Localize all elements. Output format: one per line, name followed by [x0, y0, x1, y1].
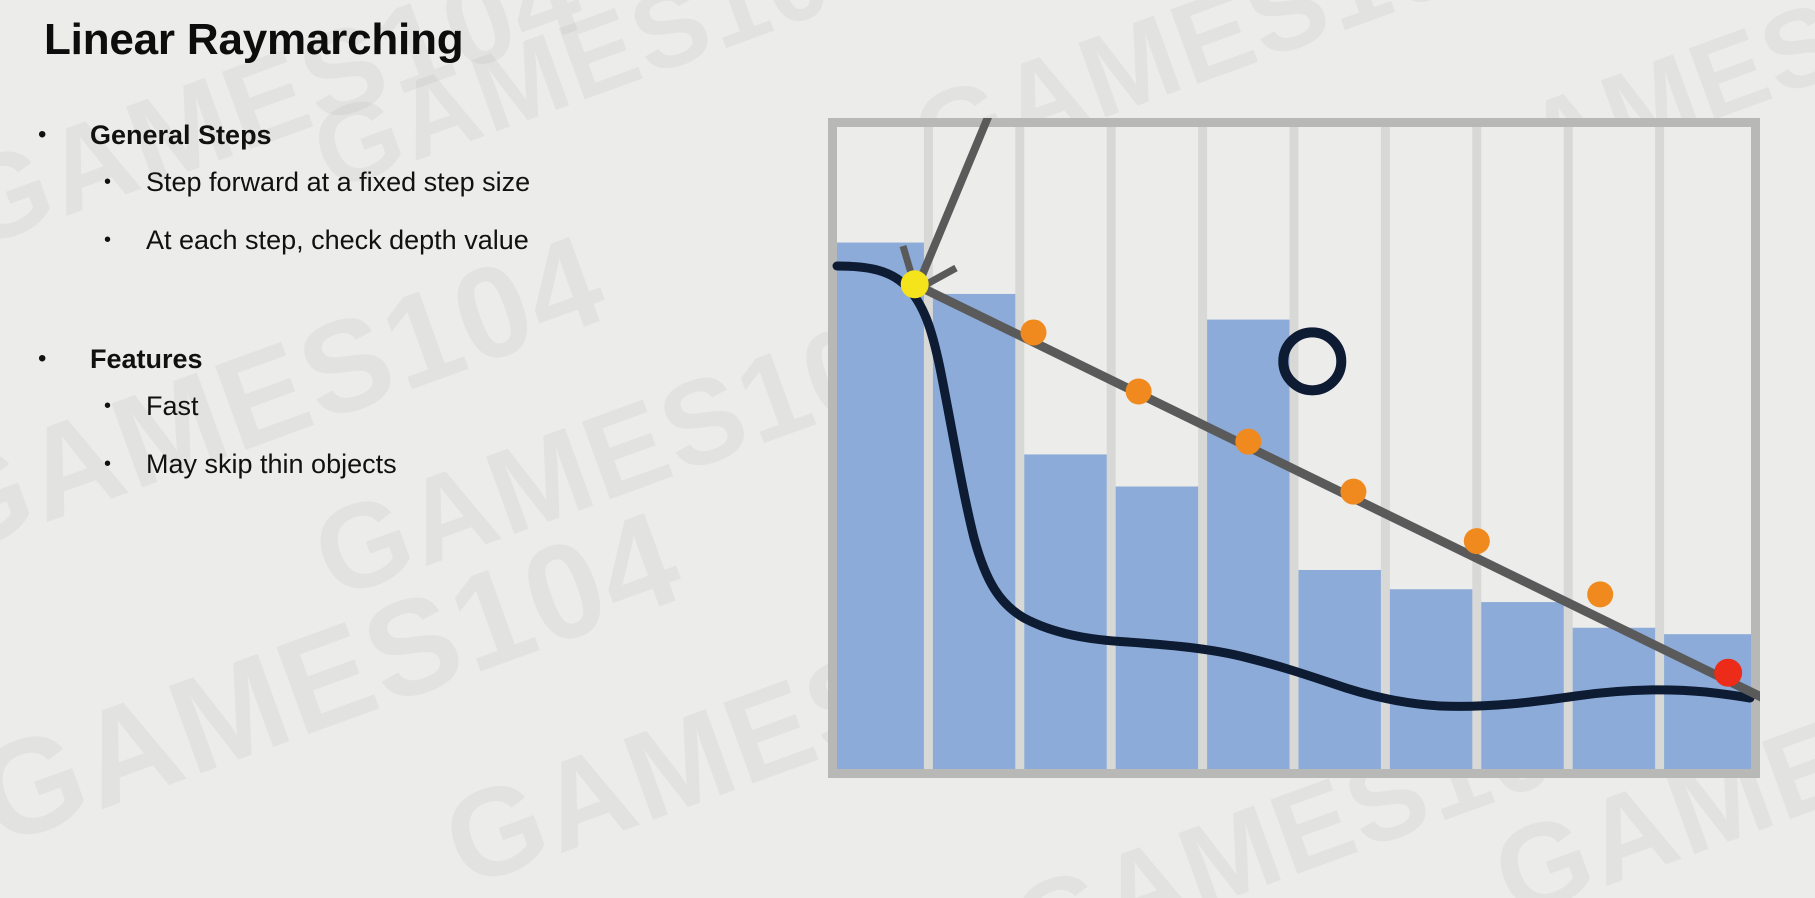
depth-bar: [1294, 570, 1385, 769]
bullet-item-features: • Features: [38, 342, 698, 376]
ray-sample-dot: [1587, 581, 1613, 607]
slide-canvas: Linear Raymarching • General Steps • Ste…: [0, 0, 1815, 898]
bullet-item-may-skip-thin-objects: • May skip thin objects: [104, 448, 698, 480]
ray-sample-dot: [1021, 319, 1047, 345]
ray-sample-dot: [1235, 429, 1261, 455]
bullet-text: General Steps: [90, 118, 698, 152]
bullet-marker-icon: •: [104, 390, 146, 422]
bullet-marker-icon: •: [104, 448, 146, 480]
page-title: Linear Raymarching: [44, 16, 463, 64]
bullet-marker-icon: •: [104, 166, 146, 198]
ray-sample-dot: [1464, 528, 1490, 554]
bullet-item-general-steps: • General Steps: [38, 118, 698, 152]
bullet-item-step-forward: • Step forward at a fixed step size: [104, 166, 698, 198]
depth-bar: [837, 243, 928, 769]
ray-origin-dot: [901, 270, 929, 298]
bullet-text: May skip thin objects: [146, 448, 698, 480]
depth-bar: [1203, 320, 1294, 769]
bullet-group-spacer: [38, 282, 698, 342]
bullet-list: • General Steps • Step forward at a fixe…: [38, 118, 698, 506]
raymarching-diagram: [828, 118, 1760, 778]
bullet-text: Step forward at a fixed step size: [146, 166, 698, 198]
bullet-text: At each step, check depth value: [146, 224, 698, 256]
depth-bar: [1477, 602, 1568, 769]
depth-bar: [1111, 487, 1202, 769]
bullet-item-fast: • Fast: [104, 390, 698, 422]
bullet-text: Features: [90, 342, 698, 376]
depth-bar: [1020, 454, 1111, 769]
depth-bar: [1385, 589, 1476, 769]
bullet-item-check-depth: • At each step, check depth value: [104, 224, 698, 256]
bullet-text: Fast: [146, 390, 698, 422]
ray-sample-dot: [1340, 479, 1366, 505]
bullet-marker-icon: •: [38, 342, 90, 376]
ray-sample-dot: [1126, 379, 1152, 405]
ray-hit-dot: [1714, 659, 1742, 687]
bullet-marker-icon: •: [38, 118, 90, 152]
raymarching-svg: [828, 118, 1760, 778]
bullet-marker-icon: •: [104, 224, 146, 256]
